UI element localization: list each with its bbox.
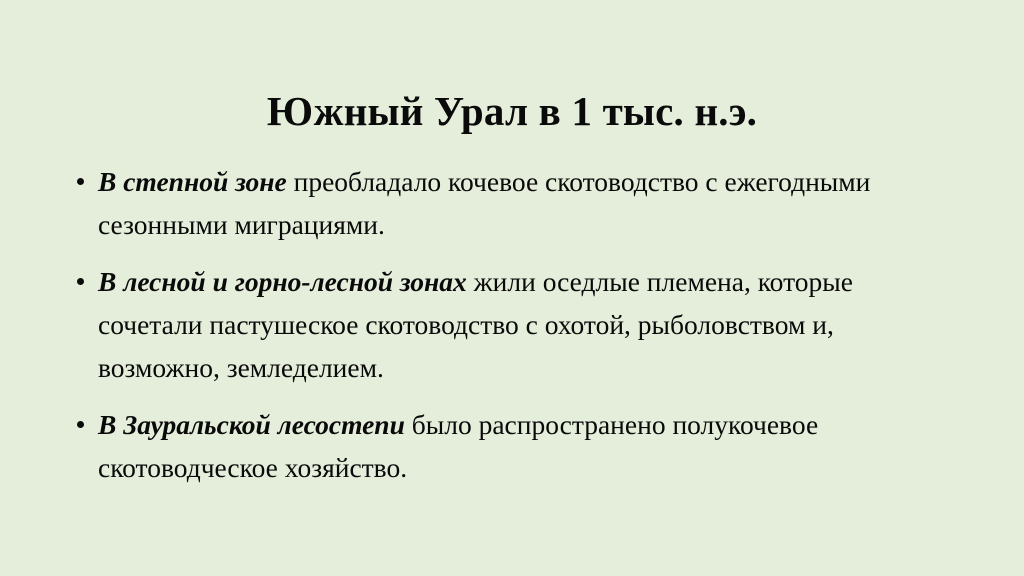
bullet-dot-icon [77,421,84,428]
list-item: В Зауральской лесостепи было распростран… [72,403,952,489]
bullet-list: В степной зоне преобладало кочевое ското… [72,160,952,489]
list-item: В степной зоне преобладало кочевое ското… [72,160,952,246]
bullet-lead-in: В лесной и горно-лесной зонах [98,266,467,297]
bullet-dot-icon [77,278,84,285]
bullet-dot-icon [77,178,84,185]
page-title: Южный Урал в 1 тыс. н.э. [0,87,1024,135]
bullet-lead-in: В Зауральской лесостепи [98,409,405,440]
presentation-slide: Южный Урал в 1 тыс. н.э. В степной зоне … [0,0,1024,576]
list-item: В лесной и горно-лесной зонах жили оседл… [72,260,952,389]
bullet-lead-in: В степной зоне [98,166,287,197]
